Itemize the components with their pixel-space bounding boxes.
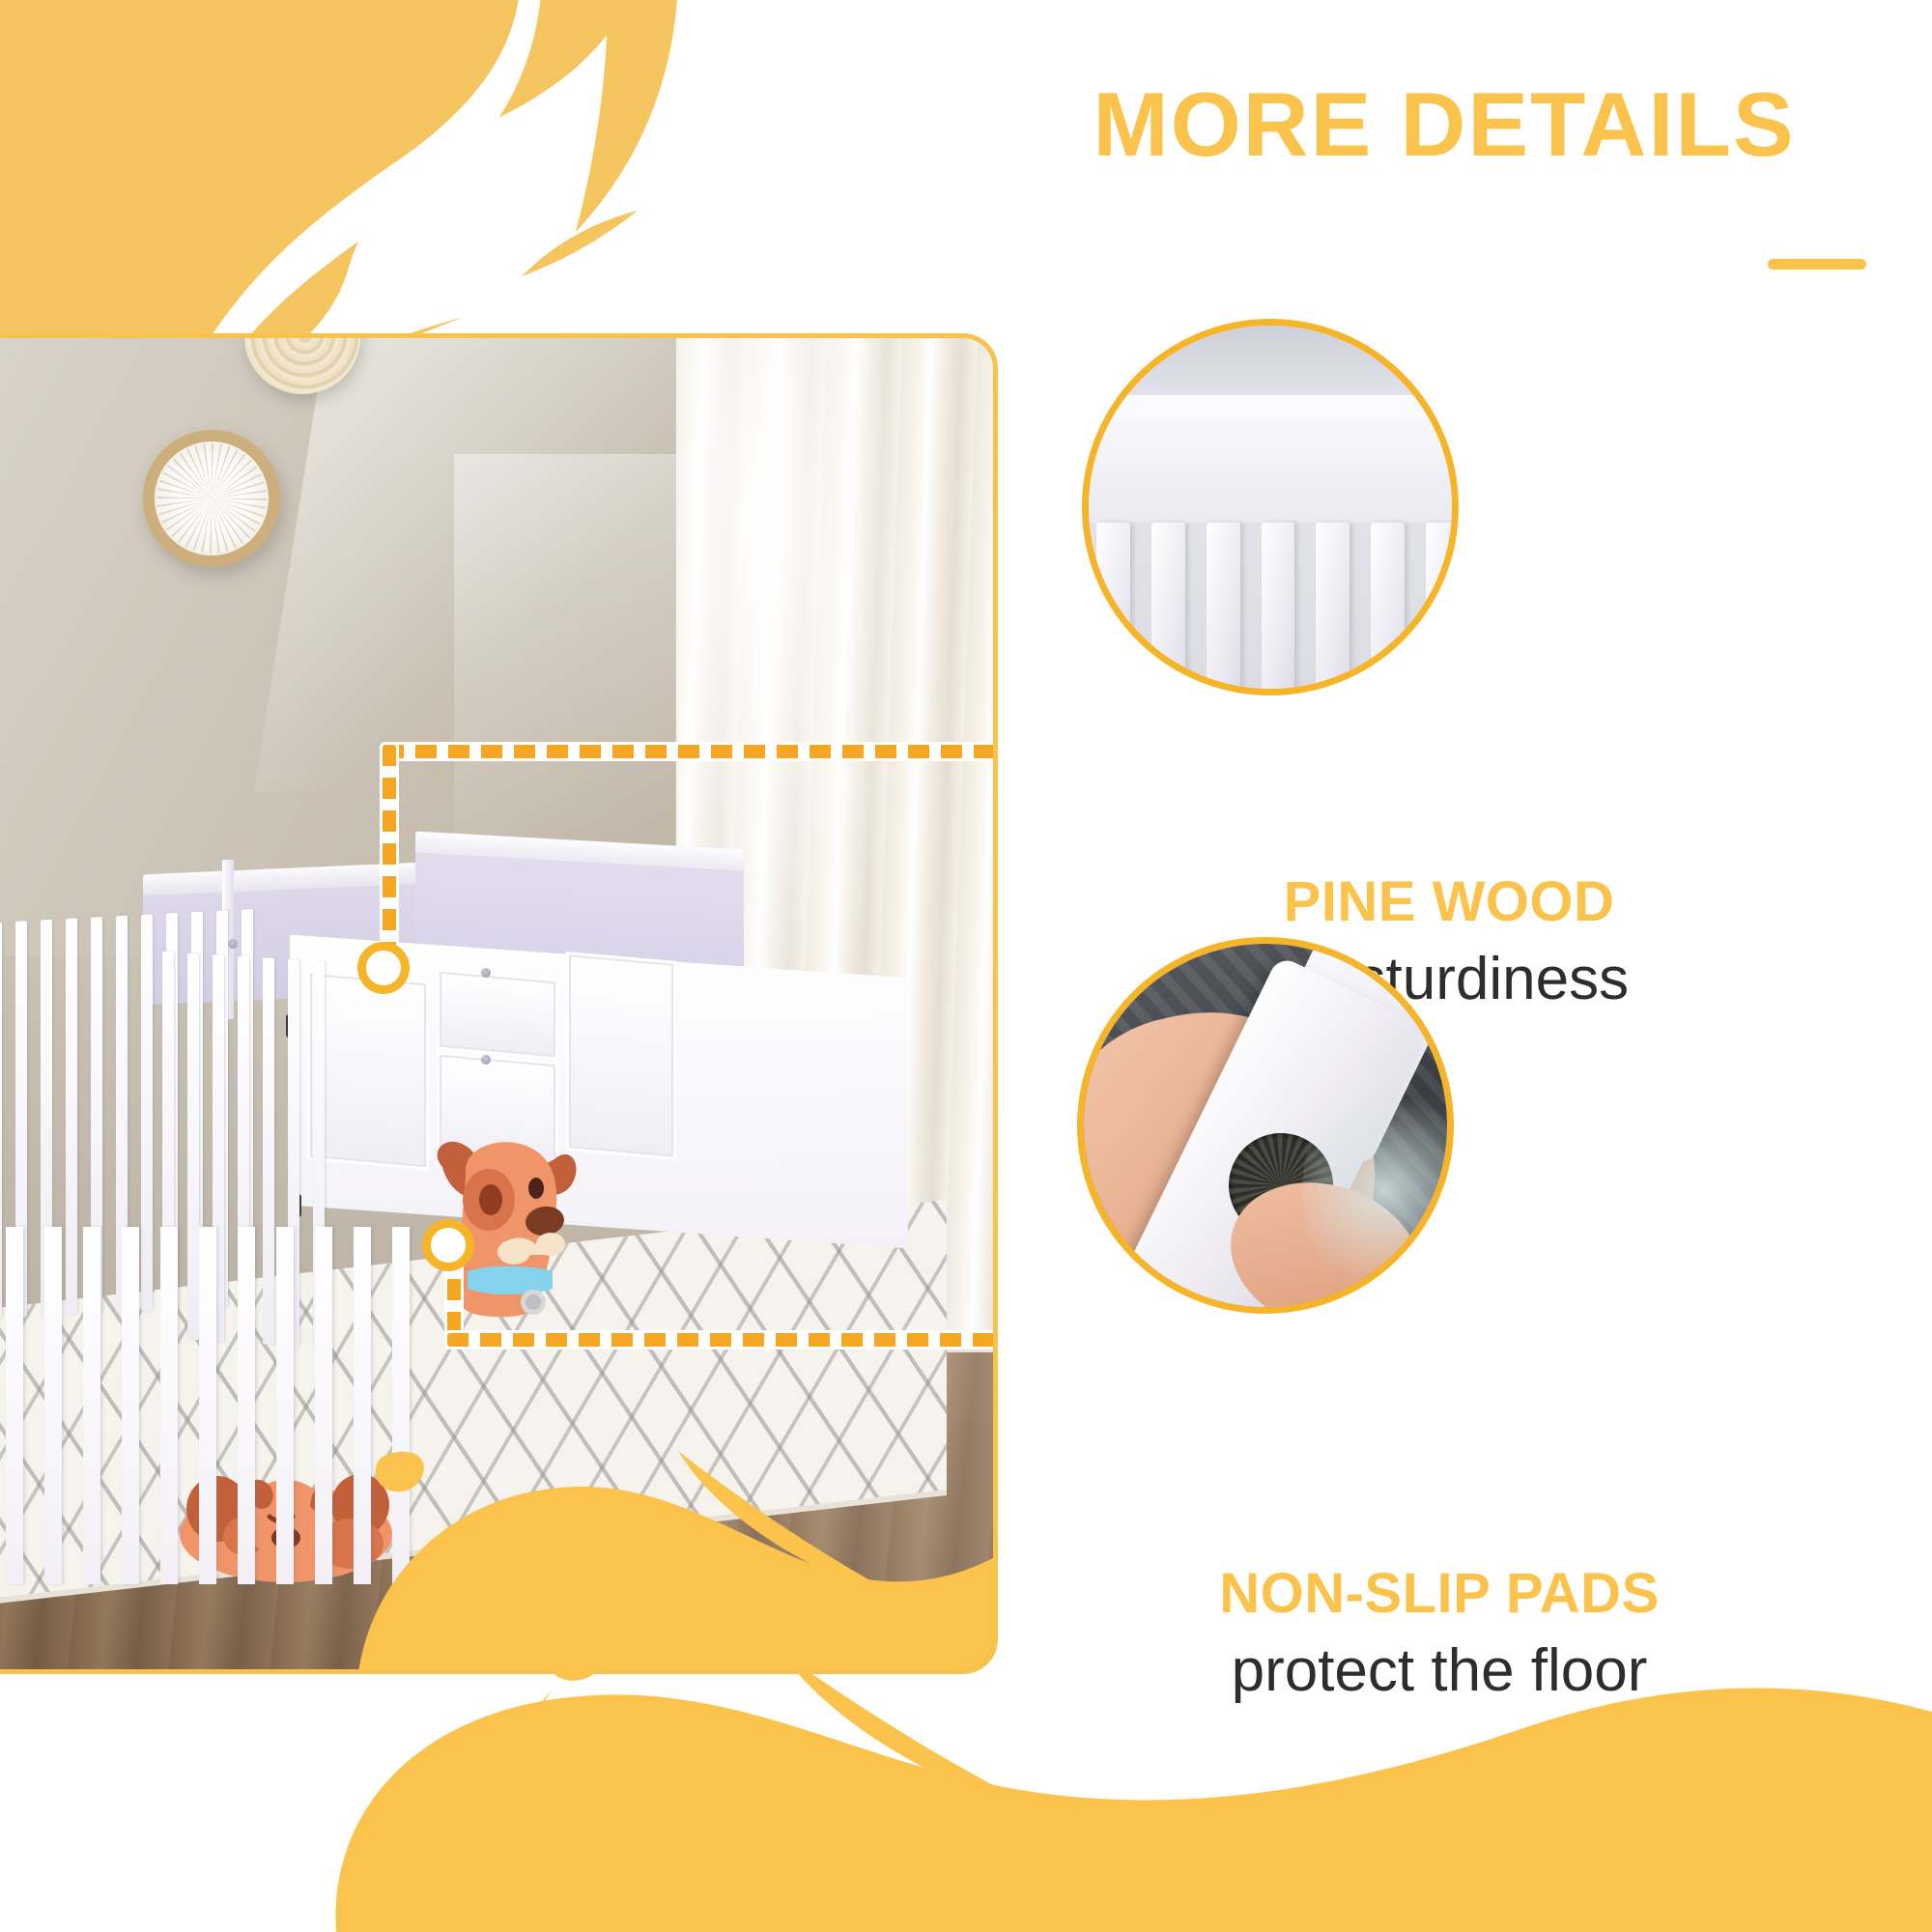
pine-wood-rail-gap [1089, 395, 1452, 418]
basket-rays [156, 443, 267, 554]
feature-photo-non-slip-pads [1077, 937, 1454, 1314]
pine-wood-top-rail [1089, 418, 1452, 523]
wall-woven-basket [143, 430, 280, 567]
pine-wood-closeup-art [1089, 326, 1452, 689]
callout-node-bottom[interactable] [422, 1219, 474, 1271]
feature-title-pine-wood: PINE WOOD [976, 869, 1922, 934]
callout-node-top[interactable] [357, 942, 410, 994]
callout-dash-bottom [447, 1333, 998, 1347]
page-title: MORE DETAILS [976, 79, 1913, 170]
title-underline-rule [1768, 259, 1866, 270]
pad-photo-glow [1302, 1079, 1454, 1301]
pen-panel-c [566, 952, 676, 1160]
feature-photo-pine-wood [1082, 319, 1459, 696]
panel-screw-2 [481, 1055, 491, 1065]
pine-wood-slats [1089, 523, 1459, 696]
pen-panel-b-top [437, 968, 558, 1060]
marketing-banner: MORE DETAILS PINE WOOD for sturdiness NO [0, 0, 1932, 1932]
pine-wood-background [1089, 326, 1452, 397]
callout-dash-top [383, 745, 998, 758]
room-scene [0, 338, 993, 1669]
panel-screw-1 [481, 968, 491, 978]
non-slip-pad-closeup-art [1084, 944, 1447, 1307]
feature-subtitle-non-slip-pads: protect the floor [966, 1636, 1913, 1705]
callout-dash-left-upper [383, 745, 396, 972]
main-product-photo [0, 333, 998, 1674]
feature-title-non-slip-pads: NON-SLIP PADS [966, 1561, 1913, 1626]
photo-bottom-blob [241, 1381, 998, 1674]
